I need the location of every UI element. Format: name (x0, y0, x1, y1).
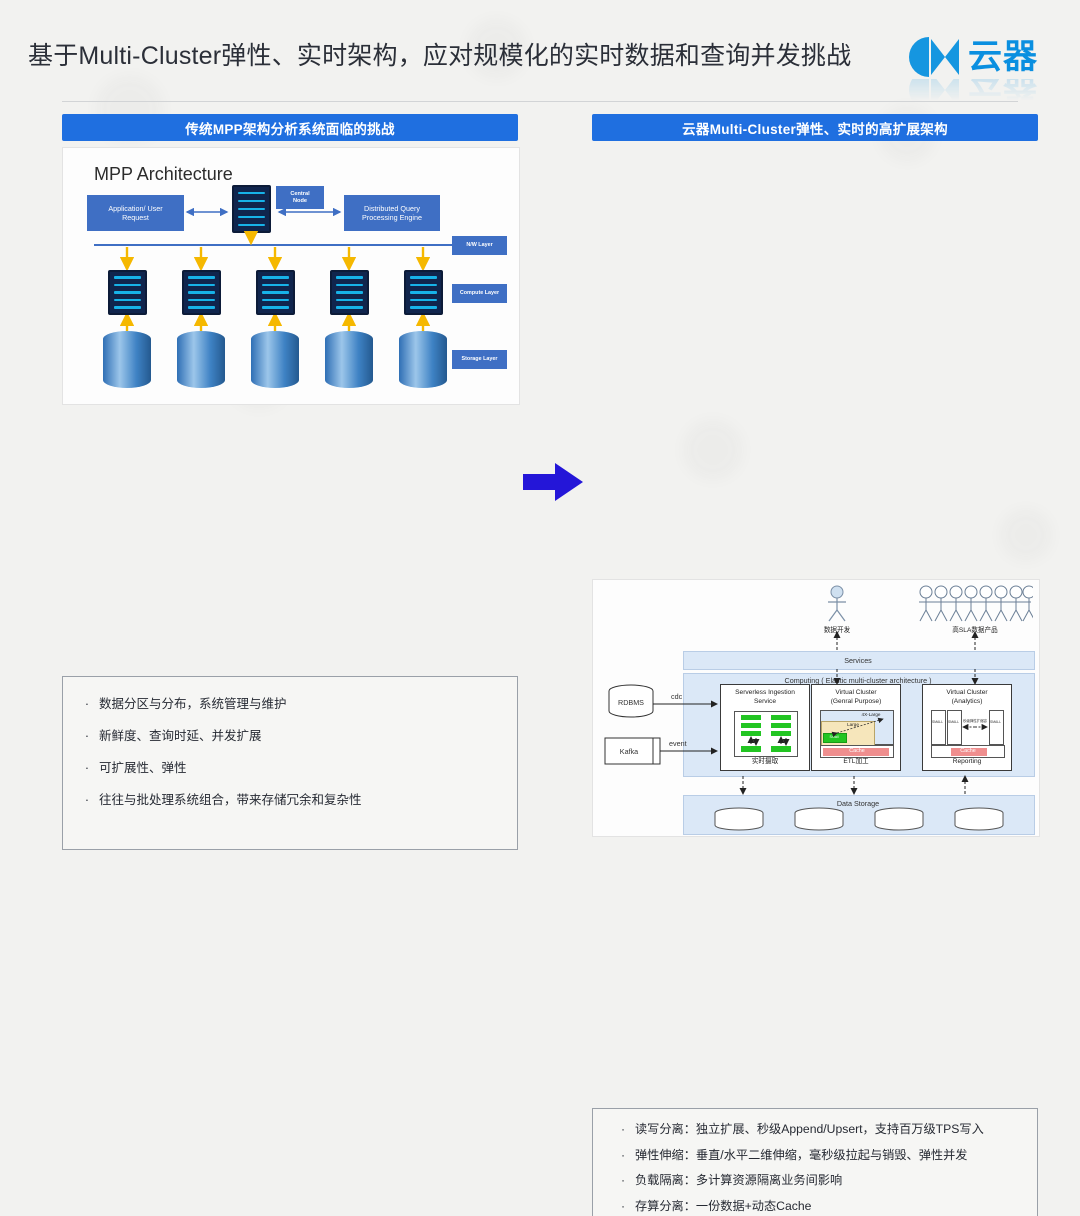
logo-wordmark: 云器 (968, 40, 1038, 74)
bullet-dot-icon: · (75, 720, 99, 752)
right-panel-title-bar: 云器Multi-Cluster弹性、实时的高扩展架构 (592, 114, 1038, 141)
serverless-ingestion-cluster: Serverless IngestionService 实时摄取 (720, 684, 810, 771)
high-sla-users-actor-icon (917, 585, 1033, 628)
list-item: ·存算分离：一份数据+动态Cache (611, 1194, 1037, 1216)
data-storage-band-label: Data Storage (683, 799, 1033, 808)
left-panel-title: 传统MPP架构分析系统面临的挑战 (185, 118, 395, 138)
kafka-source-label: Kafka (605, 747, 653, 756)
multicluster-architecture-diagram: 数据开发 高SLA数据产品 Services C (592, 579, 1040, 837)
list-item-text: 可扩展性、弹性 (99, 752, 187, 784)
network-layer-label-box: N/W Layer (452, 236, 507, 255)
central-node-label: CentralNode (290, 191, 309, 205)
data-developer-actor-label: 数据开发 (812, 624, 862, 634)
left-panel-title-bar: 传统MPP架构分析系统面临的挑战 (62, 114, 518, 141)
compute-node-server-icon (256, 270, 295, 315)
bullet-dot-icon: · (75, 784, 99, 816)
slide-canvas: 基于Multi-Cluster弹性、实时架构，应对规模化的实时数据和查询并发挑战… (0, 0, 1080, 608)
list-item: ·可扩展性、弹性 (75, 752, 517, 784)
list-item: ·读写分离：独立扩展、秒级Append/Upsert，支持百万级TPS写入 (611, 1117, 1037, 1143)
list-item-text: 新鲜度、查询时延、并发扩展 (99, 720, 262, 752)
compute-node-server-icon (330, 270, 369, 315)
compute-node-server-icon (182, 270, 221, 315)
serverless-ingestion-title: Serverless IngestionService (721, 689, 809, 707)
virtual-cluster-analytics-footer: Reporting (923, 758, 1011, 767)
list-item: ·新鲜度、查询时延、并发扩展 (75, 720, 517, 752)
distributed-query-engine-box: Distributed QueryProcessing Engine (344, 195, 440, 231)
page-title: 基于Multi-Cluster弹性、实时架构，应对规模化的实时数据和查询并发挑战 (28, 36, 878, 72)
bullet-dot-icon: · (611, 1117, 635, 1143)
application-user-request-label: Application/ UserRequest (108, 204, 162, 222)
list-item: ·负载隔离：多计算资源隔离业务间影响 (611, 1168, 1037, 1194)
compute-node-server-icon (108, 270, 147, 315)
list-item-text: 负载隔离：多计算资源隔离业务间影响 (635, 1168, 842, 1194)
event-edge-label: event (669, 739, 687, 748)
compute-layer-label-box: Compute Layer (452, 284, 507, 303)
list-item-text: 读写分离：独立扩展、秒级Append/Upsert，支持百万级TPS写入 (635, 1117, 984, 1143)
right-panel-title: 云器Multi-Cluster弹性、实时的高扩展架构 (682, 118, 948, 138)
compute-node-server-icon (404, 270, 443, 315)
bullet-dot-icon: · (611, 1194, 635, 1216)
network-layer-line (94, 244, 498, 246)
network-layer-label: N/W Layer (466, 242, 492, 249)
list-item: ·弹性伸缩：垂直/水平二维伸缩，毫秒级拉起与销毁、弹性并发 (611, 1143, 1037, 1169)
cdc-edge-label: cdc (671, 692, 682, 701)
application-user-request-box: Application/ UserRequest (87, 195, 184, 231)
compute-layer-label: Compute Layer (460, 290, 499, 297)
services-band-label: Services (683, 656, 1033, 665)
brand-logo: 云器 (909, 37, 1038, 77)
slide-header: 基于Multi-Cluster弹性、实时架构，应对规模化的实时数据和查询并发挑战… (0, 0, 1080, 103)
logo-reflection: 云器 (909, 79, 1038, 101)
distributed-query-engine-label: Distributed QueryProcessing Engine (362, 204, 422, 222)
right-arrow-icon (521, 461, 585, 503)
virtual-cluster-general-purpose: Virtual Cluster(Genral Purpose) Small La… (811, 684, 901, 771)
serverless-ingestion-footer: 实时摄取 (721, 758, 809, 767)
left-challenges-list: ·数据分区与分布，系统管理与维护 ·新鲜度、查询时延、并发扩展 ·可扩展性、弹性… (62, 676, 518, 850)
mpp-architecture-diagram: MPP Architecture Application/ UserReques… (62, 147, 520, 405)
central-node-server-icon (232, 185, 271, 233)
rdbms-source-label: RDBMS (609, 698, 653, 707)
logo-wordmark-reflection: 云器 (968, 79, 1038, 101)
central-node-box: CentralNode (276, 186, 324, 209)
analytics-cache-label: Cache (932, 748, 1004, 754)
data-developer-actor-icon (824, 585, 850, 628)
bullet-dot-icon: · (75, 688, 99, 720)
right-advantages-list: ·读写分离：独立扩展、秒级Append/Upsert，支持百万级TPS写入 ·弹… (592, 1108, 1038, 1216)
storage-layer-label-box: Storage Layer (452, 350, 507, 369)
list-item-text: 往往与批处理系统组合，带来存储冗余和复杂性 (99, 784, 362, 816)
virtual-cluster-analytics-title: Virtual Cluster(Analytics) (923, 689, 1011, 707)
list-item: ·往往与批处理系统组合，带来存储冗余和复杂性 (75, 784, 517, 816)
header-divider (62, 101, 1018, 102)
mpp-diagram-title: MPP Architecture (94, 164, 233, 185)
high-sla-users-actor-label: 高SLA数据产品 (933, 624, 1017, 634)
list-item-text: 数据分区与分布，系统管理与维护 (99, 688, 287, 720)
bullet-dot-icon: · (611, 1143, 635, 1169)
virtual-cluster-general-footer: ETL加工 (812, 758, 900, 767)
yunqi-x-logo-icon (909, 37, 961, 77)
list-item-text: 存算分离：一份数据+动态Cache (635, 1194, 811, 1216)
storage-layer-label: Storage Layer (462, 356, 498, 363)
general-cache-label: Cache (821, 748, 893, 754)
yunqi-x-logo-reflection-icon (909, 79, 961, 101)
list-item: ·数据分区与分布，系统管理与维护 (75, 688, 517, 720)
virtual-cluster-general-title: Virtual Cluster(Genral Purpose) (812, 689, 900, 707)
storage-cylinders (63, 330, 519, 392)
bullet-dot-icon: · (611, 1168, 635, 1194)
virtual-cluster-analytics: Virtual Cluster(Analytics) SMALL SMALL S… (922, 684, 1012, 771)
bullet-dot-icon: · (75, 752, 99, 784)
list-item-text: 弹性伸缩：垂直/水平二维伸缩，毫秒级拉起与销毁、弹性并发 (635, 1143, 967, 1169)
